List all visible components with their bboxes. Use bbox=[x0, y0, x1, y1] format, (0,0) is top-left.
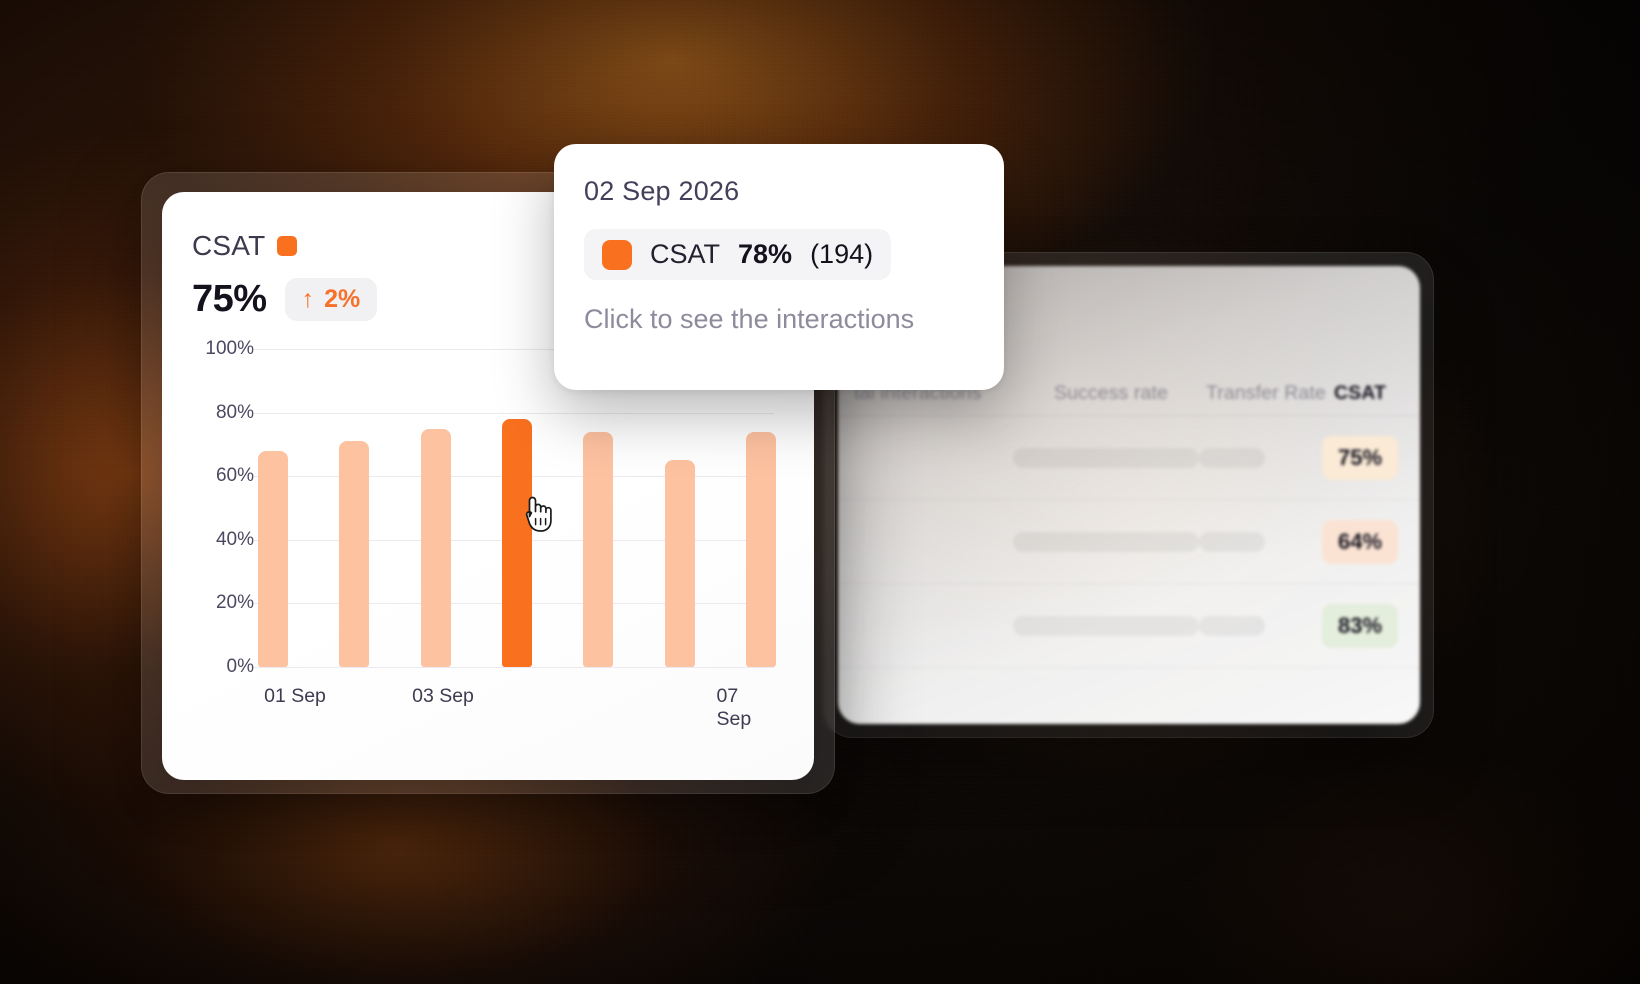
tooltip-series-count: (194) bbox=[810, 239, 873, 270]
tooltip-date: 02 Sep 2026 bbox=[584, 176, 974, 207]
cell-csat: 83% bbox=[1322, 604, 1398, 648]
delta-badge: ↑ 2% bbox=[285, 278, 378, 321]
csat-badge: 75% bbox=[1322, 436, 1398, 480]
bar[interactable] bbox=[746, 432, 776, 667]
x-axis-tick-label: 03 Sep bbox=[412, 685, 474, 708]
bar-chart-plot-area: 100%80%60%40%20%0% bbox=[192, 349, 784, 667]
column-header-success-rate: Success rate bbox=[1054, 382, 1206, 405]
placeholder-bar bbox=[1013, 616, 1199, 636]
tooltip-swatch-icon bbox=[602, 240, 632, 270]
x-axis-tick-label: 01 Sep bbox=[264, 685, 326, 708]
bar[interactable] bbox=[665, 460, 695, 667]
column-header-transfer-rate: Transfer Rate bbox=[1206, 382, 1334, 405]
y-axis-tick-label: 60% bbox=[192, 465, 254, 487]
table-row[interactable]: 83% bbox=[838, 584, 1420, 668]
placeholder-bar bbox=[1013, 448, 1199, 468]
y-axis-tick-label: 20% bbox=[192, 592, 254, 614]
page-title: CSAT bbox=[192, 230, 265, 262]
tooltip-series-row: CSAT 78% (194) bbox=[584, 229, 891, 280]
csat-badge: 83% bbox=[1322, 604, 1398, 648]
y-axis-tick-label: 100% bbox=[192, 338, 254, 360]
chart-tooltip[interactable]: 02 Sep 2026 CSAT 78% (194) Click to see … bbox=[554, 144, 1004, 390]
tooltip-hint: Click to see the interactions bbox=[584, 304, 974, 335]
cell-csat: 75% bbox=[1322, 436, 1398, 480]
gridline bbox=[254, 667, 774, 668]
table-row[interactable]: 64% bbox=[838, 500, 1420, 584]
x-axis: 01 Sep03 Sep07 Sep bbox=[192, 685, 784, 715]
y-axis-tick-label: 40% bbox=[192, 529, 254, 551]
cell-success-rate bbox=[1047, 616, 1199, 636]
cell-csat: 64% bbox=[1322, 520, 1398, 564]
placeholder-bar bbox=[1199, 448, 1265, 468]
bar[interactable] bbox=[339, 441, 369, 667]
x-axis-tick-label: 07 Sep bbox=[717, 685, 762, 731]
bar[interactable] bbox=[421, 429, 451, 668]
metric-value: 75% bbox=[192, 278, 267, 321]
cell-transfer-rate bbox=[1199, 532, 1322, 552]
cell-success-rate bbox=[1047, 532, 1199, 552]
csat-badge: 64% bbox=[1322, 520, 1398, 564]
bar-selected[interactable] bbox=[502, 419, 532, 667]
bar[interactable] bbox=[258, 451, 288, 667]
table-row[interactable]: 75% bbox=[838, 416, 1420, 500]
cell-transfer-rate bbox=[1199, 448, 1322, 468]
y-axis-tick-label: 0% bbox=[192, 656, 254, 678]
tooltip-series-name: CSAT bbox=[650, 239, 720, 270]
placeholder-bar bbox=[1199, 616, 1265, 636]
tooltip-series-value: 78% bbox=[738, 239, 792, 270]
y-axis-tick-label: 80% bbox=[192, 402, 254, 424]
cell-success-rate bbox=[1047, 448, 1199, 468]
placeholder-bar bbox=[1013, 532, 1199, 552]
arrow-up-icon: ↑ bbox=[302, 287, 315, 312]
column-header-csat: CSAT bbox=[1334, 382, 1386, 405]
delta-value: 2% bbox=[324, 285, 360, 314]
bar[interactable] bbox=[583, 432, 613, 667]
placeholder-bar bbox=[1199, 532, 1265, 552]
cell-transfer-rate bbox=[1199, 616, 1322, 636]
bar-group bbox=[258, 349, 776, 667]
legend-swatch-icon bbox=[277, 236, 297, 256]
